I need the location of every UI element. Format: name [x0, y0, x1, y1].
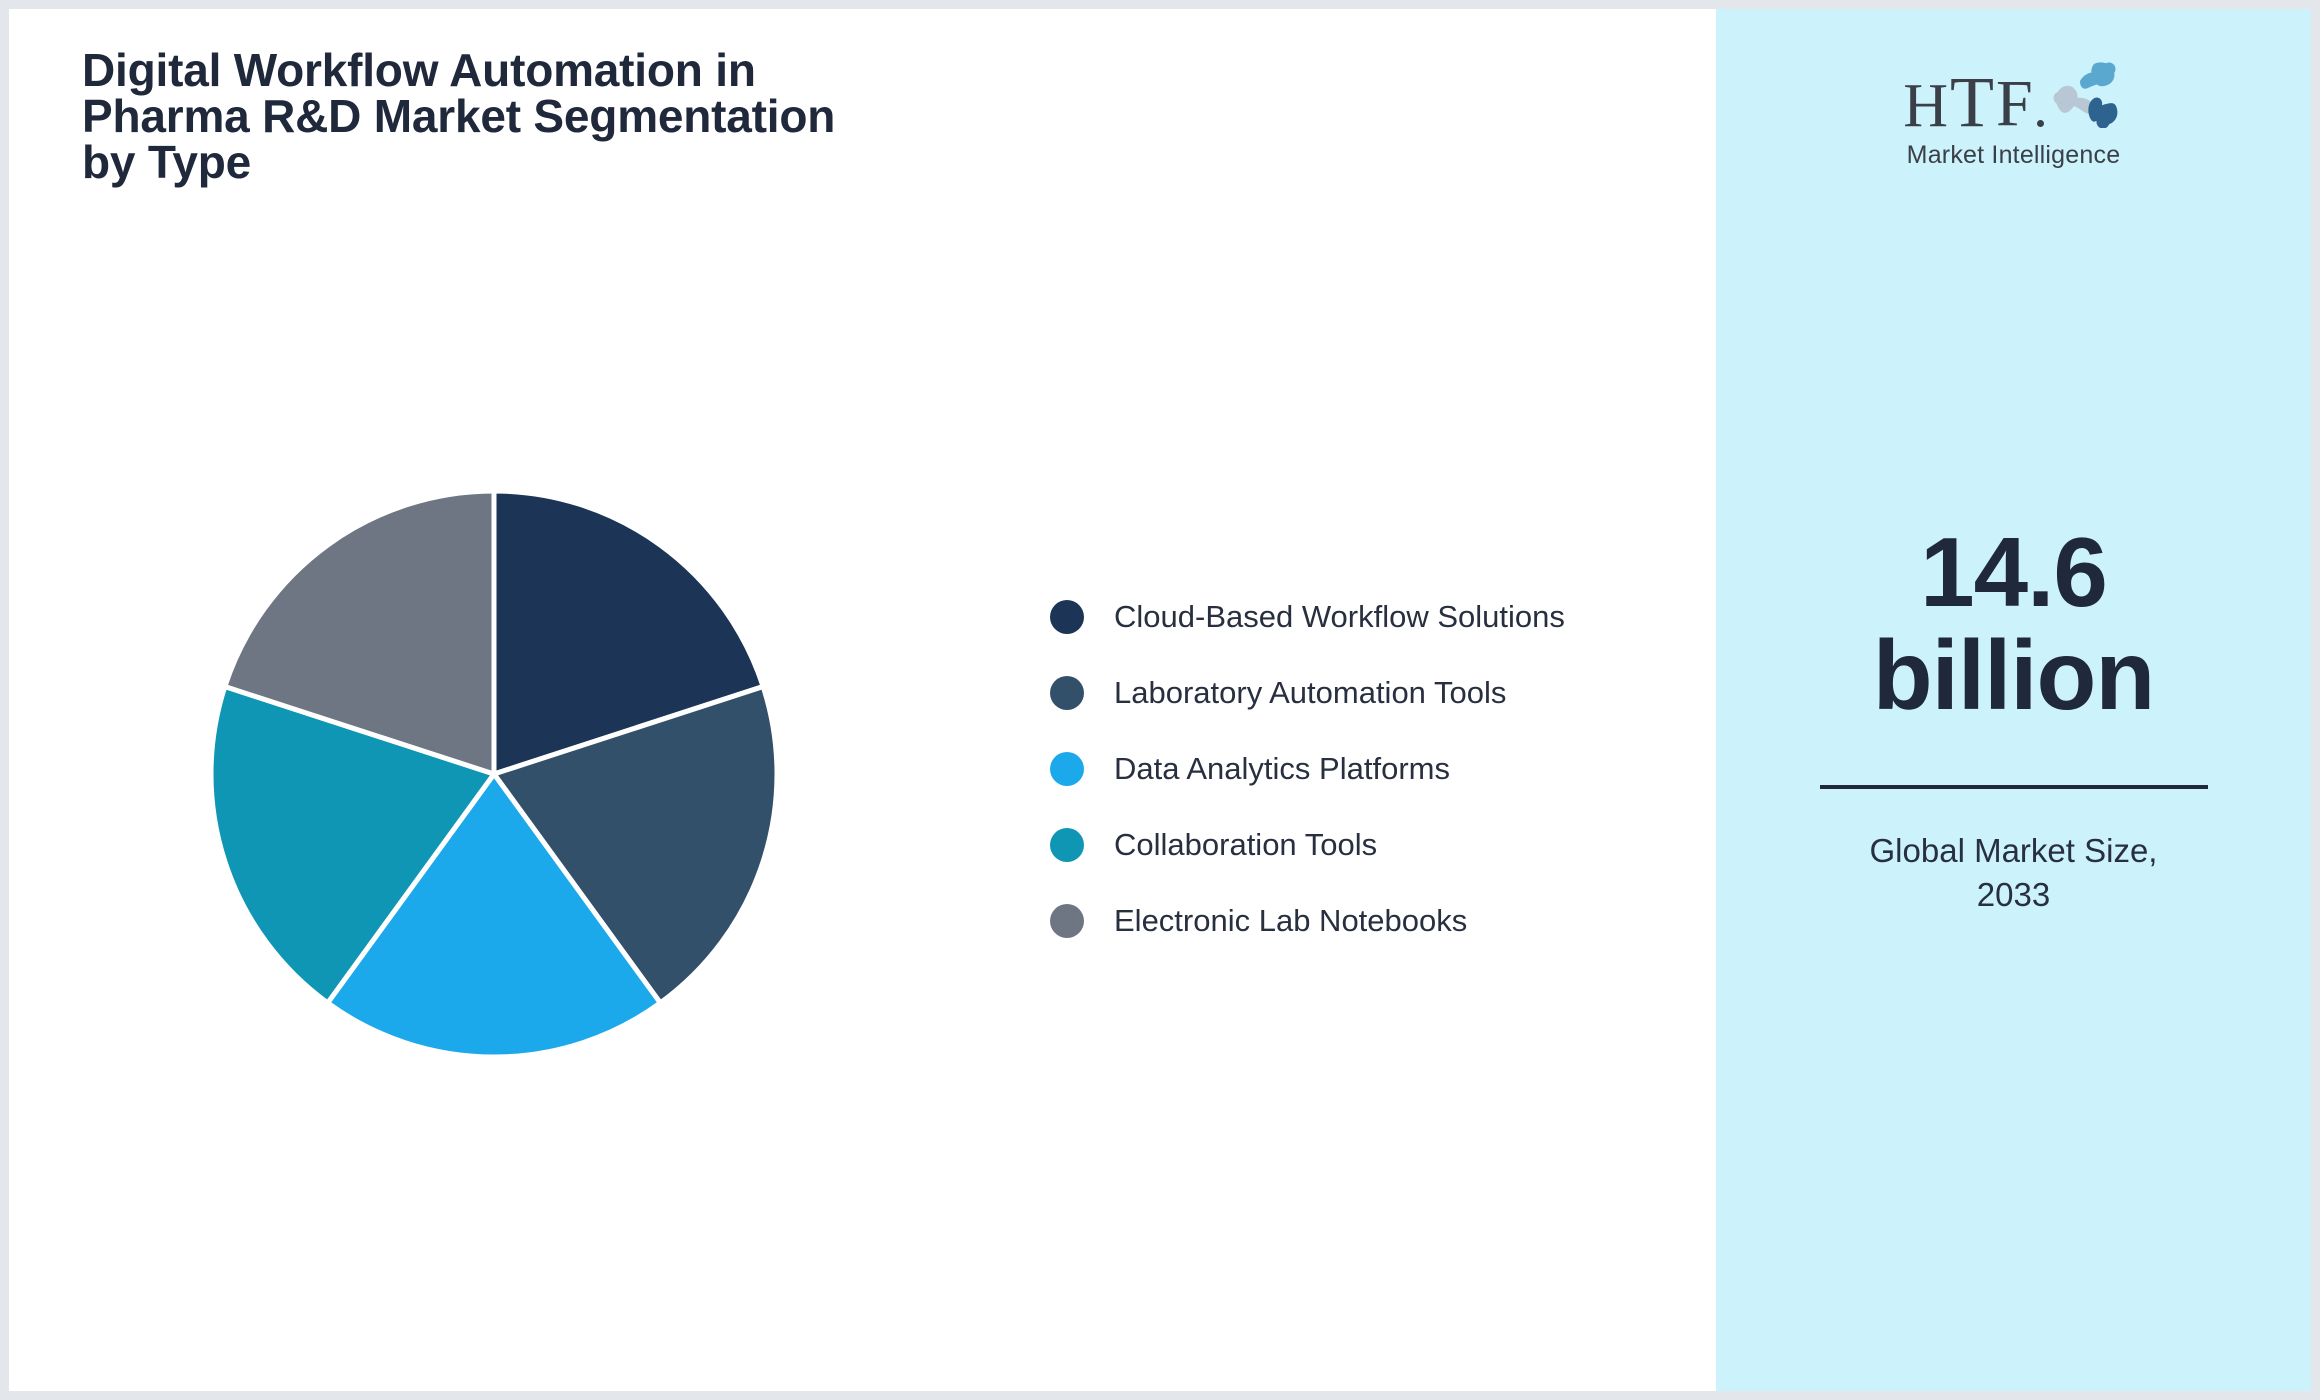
- content-frame: Digital Workflow Automation in Pharma R&…: [9, 9, 2311, 1391]
- legend-swatch-icon: [1050, 904, 1084, 938]
- legend-swatch-icon: [1050, 600, 1084, 634]
- logo-mark: HTF: [1903, 63, 2123, 135]
- legend-item-data-analytics-platforms[interactable]: Data Analytics Platforms: [1050, 749, 1650, 789]
- logo-letter-h: H: [1903, 78, 1949, 135]
- logo-letter-t: T: [1950, 69, 1995, 135]
- legend-item-electronic-lab-notebooks[interactable]: Electronic Lab Notebooks: [1050, 901, 1650, 941]
- legend-item-label: Laboratory Automation Tools: [1114, 675, 1506, 711]
- stat-value: 14.6 billion: [1716, 521, 2311, 727]
- legend-swatch-icon: [1050, 752, 1084, 786]
- stat-divider: [1820, 785, 2208, 789]
- logo-letter-f: F: [1996, 74, 2034, 135]
- chart-panel: Digital Workflow Automation in Pharma R&…: [9, 9, 1716, 1391]
- legend-item-label: Cloud-Based Workflow Solutions: [1114, 599, 1565, 635]
- logo-dot-icon: [2037, 120, 2044, 127]
- legend-item-label: Electronic Lab Notebooks: [1114, 903, 1467, 939]
- people-swirl-icon: [2050, 58, 2124, 133]
- legend-item-laboratory-automation-tools[interactable]: Laboratory Automation Tools: [1050, 673, 1650, 713]
- legend-item-label: Data Analytics Platforms: [1114, 751, 1450, 787]
- stat-block: 14.6 billion Global Market Size, 2033: [1716, 521, 2311, 917]
- brand-logo[interactable]: HTF: [1716, 63, 2311, 170]
- pie-chart-svg: [207, 487, 781, 1061]
- stat-caption: Global Market Size, 2033: [1716, 829, 2311, 917]
- logo-tagline: Market Intelligence: [1907, 141, 2121, 170]
- legend-swatch-icon: [1050, 676, 1084, 710]
- legend-item-label: Collaboration Tools: [1114, 827, 1377, 863]
- legend-item-cloud-based-workflow-solutions[interactable]: Cloud-Based Workflow Solutions: [1050, 597, 1650, 637]
- legend-item-collaboration-tools[interactable]: Collaboration Tools: [1050, 825, 1650, 865]
- chart-legend: Cloud-Based Workflow Solutions Laborator…: [1050, 597, 1650, 941]
- pie-chart: [207, 487, 781, 1061]
- stat-sidebar: HTF: [1716, 9, 2311, 1391]
- screenshot-canvas: Digital Workflow Automation in Pharma R&…: [0, 0, 2320, 1400]
- logo-wordmark: HTF: [1903, 69, 2033, 135]
- legend-swatch-icon: [1050, 828, 1084, 862]
- page-title: Digital Workflow Automation in Pharma R&…: [82, 47, 1042, 185]
